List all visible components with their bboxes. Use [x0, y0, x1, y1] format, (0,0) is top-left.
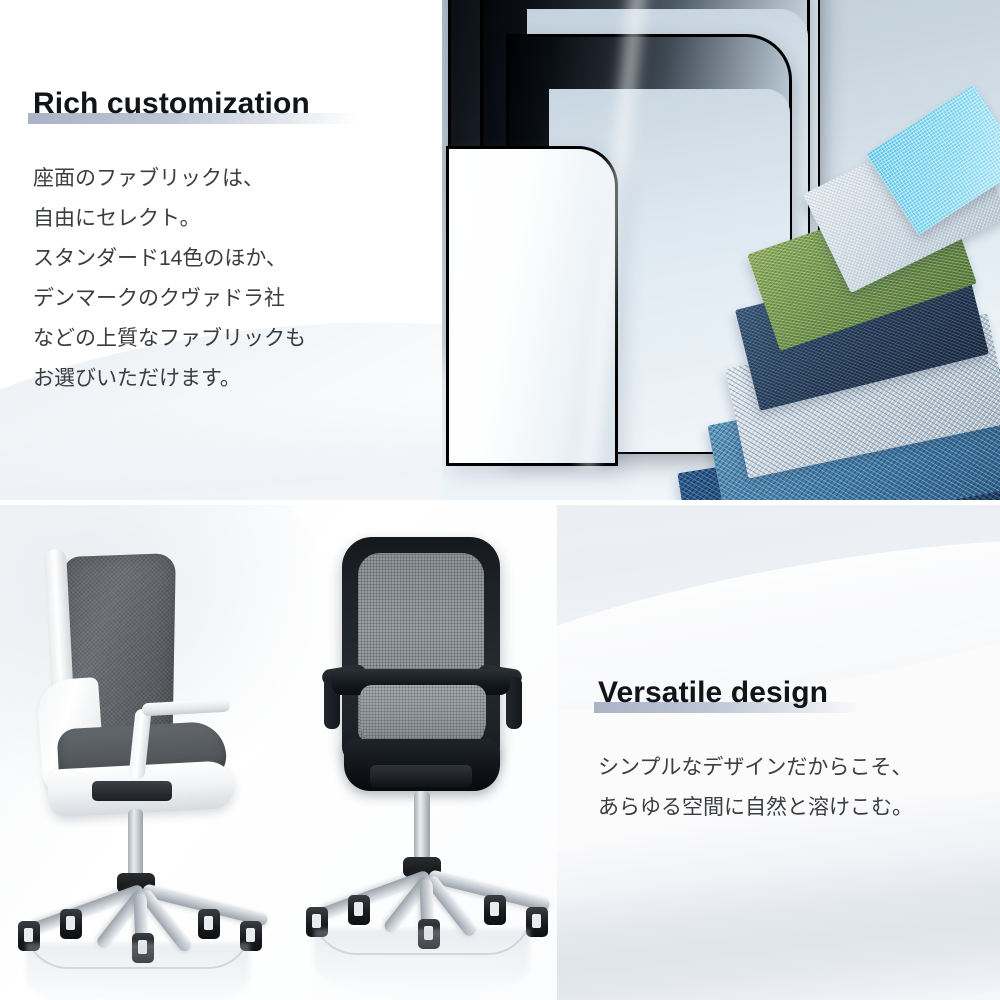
chair-b-floor-reflection: [314, 929, 530, 999]
chair-a-caster-2: [60, 909, 82, 939]
chair-black-frame-rear-view: [300, 527, 550, 973]
chair-a-gas-cylinder: [128, 809, 143, 883]
chair-b-tilt-mechanism: [370, 765, 472, 787]
fabric-swatch-fan: [590, 108, 1000, 500]
chair-b-caster-4: [484, 895, 506, 925]
versatile-design-body: シンプルなデザインだからこそ、 あらゆる空間に自然と溶けこむ。: [598, 748, 913, 828]
chair-a-floor-reflection: [26, 943, 250, 1000]
versatile-design-heading: Versatile design: [598, 676, 828, 710]
chair-b-five-star-base: [300, 867, 557, 961]
office-chairs-photo: [0, 505, 557, 1000]
chair-b-caster-2: [348, 895, 370, 925]
banner-stage: Rich customization 座面のファブリックは、 自由にセレクト。 …: [0, 0, 1000, 1000]
chair-a-five-star-base: [8, 881, 278, 975]
chair-shells-fabric-photo: [442, 0, 1000, 500]
rich-customization-body: 座面のファブリックは、 自由にセレクト。 スタンダード14色のほか、 デンマーク…: [33, 159, 306, 399]
chair-a-tilt-mechanism: [92, 781, 172, 801]
chair-white-frame-side-view: [14, 533, 274, 973]
rich-customization-heading: Rich customization: [33, 87, 310, 121]
chair-b-gas-cylinder: [414, 791, 430, 865]
chair-a-caster-4: [198, 909, 220, 939]
